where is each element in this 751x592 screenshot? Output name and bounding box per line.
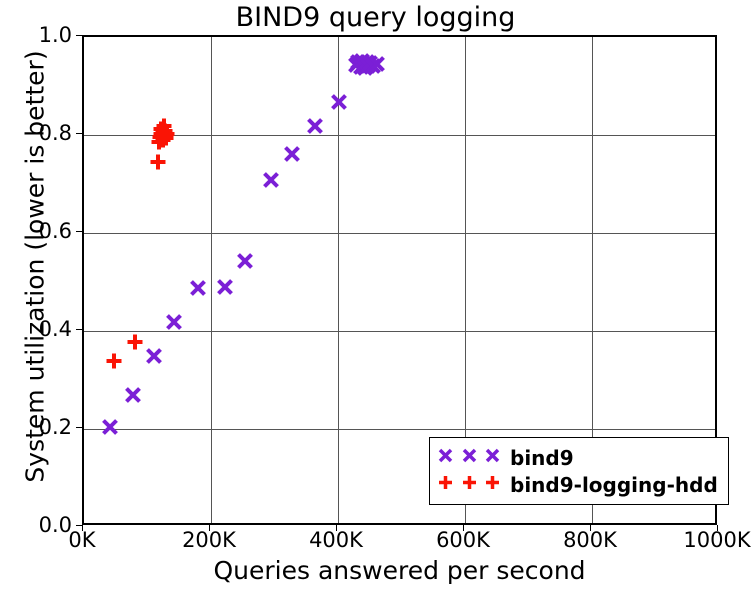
data-point-bind9-logging-hdd-9: [155, 131, 172, 148]
data-point-bind9-logging-hdd-0: [105, 353, 122, 370]
y-tick-mark: [76, 231, 82, 232]
data-point-bind9-17: [358, 53, 375, 70]
data-point-bind9-16: [357, 60, 374, 77]
data-point-bind9-6: [236, 253, 253, 270]
data-point-bind9-4: [190, 279, 207, 296]
x-tick-label: 1000K: [683, 528, 750, 552]
legend-marker-glyph: [485, 448, 500, 467]
y-tick-mark: [76, 329, 82, 330]
data-point-bind9-logging-hdd-13: [157, 130, 174, 147]
legend-marker-glyph: [462, 475, 477, 494]
data-point-bind9-12: [350, 54, 367, 71]
data-point-bind9-18: [360, 57, 377, 74]
data-point-bind9-logging-hdd-7: [154, 128, 171, 145]
x-tick-label: 200K: [182, 528, 236, 552]
legend-item-bind9-logging-hdd[interactable]: bind9-logging-hdd: [438, 471, 718, 498]
data-point-bind9-logging-hdd-1: [126, 334, 143, 351]
data-point-bind9-5: [216, 278, 233, 295]
x-axis-label: Queries answered per second: [82, 556, 717, 585]
x-gridline: [211, 37, 212, 523]
chart-legend: bind9bind9-logging-hdd: [429, 437, 729, 505]
legend-item-bind9[interactable]: bind9: [438, 444, 718, 471]
legend-label: bind9: [510, 446, 574, 470]
y-gridline: [84, 429, 715, 430]
data-point-bind9-10: [331, 94, 348, 111]
data-point-bind9-logging-hdd-5: [152, 125, 169, 142]
data-point-bind9-13: [352, 59, 369, 76]
data-point-bind9-8: [283, 145, 300, 162]
data-point-bind9-19: [362, 55, 379, 72]
data-point-bind9-11: [347, 57, 364, 74]
legend-marker-glyph: [438, 475, 453, 494]
data-point-bind9-logging-hdd-8: [154, 124, 171, 141]
data-point-bind9-9: [307, 118, 324, 135]
scatter-chart-figure: BIND9 query logging 0K200K400K600K800K10…: [0, 0, 751, 592]
x-tick-label: 400K: [309, 528, 363, 552]
y-tick-mark: [76, 427, 82, 428]
y-tick-mark: [76, 525, 82, 526]
page-title: BIND9 query logging: [0, 2, 751, 33]
data-point-bind9-logging-hdd-4: [152, 129, 169, 146]
x-gridline: [338, 37, 339, 523]
x-tick-label: 0K: [68, 528, 95, 552]
x-tick-label: 600K: [436, 528, 490, 552]
data-point-bind9-logging-hdd-12: [157, 123, 174, 140]
data-point-bind9-logging-hdd-10: [156, 118, 173, 135]
legend-marker-glyph: [438, 448, 453, 467]
y-gridline: [84, 331, 715, 332]
data-point-bind9-2: [145, 347, 162, 364]
y-tick-mark: [76, 35, 82, 36]
data-point-bind9-1: [124, 386, 141, 403]
y-axis-label: System utilization (lower is better): [21, 7, 50, 527]
data-point-bind9-3: [166, 314, 183, 331]
legend-marker-glyph: [485, 475, 500, 494]
data-point-bind9-logging-hdd-2: [149, 153, 166, 170]
legend-marker-+-icon: [438, 475, 500, 494]
legend-label: bind9-logging-hdd: [510, 473, 718, 497]
legend-marker-glyph: [462, 448, 477, 467]
data-point-bind9-15: [356, 56, 373, 73]
data-point-bind9-0: [102, 418, 119, 435]
data-point-bind9-20: [364, 58, 381, 75]
y-gridline: [84, 135, 715, 136]
y-tick-mark: [76, 133, 82, 134]
data-point-bind9-14: [354, 52, 371, 69]
data-point-bind9-7: [263, 172, 280, 189]
y-gridline: [84, 233, 715, 234]
data-point-bind9-21: [369, 55, 386, 72]
x-tick-label: 800K: [563, 528, 617, 552]
legend-marker-x-icon: [438, 448, 500, 467]
